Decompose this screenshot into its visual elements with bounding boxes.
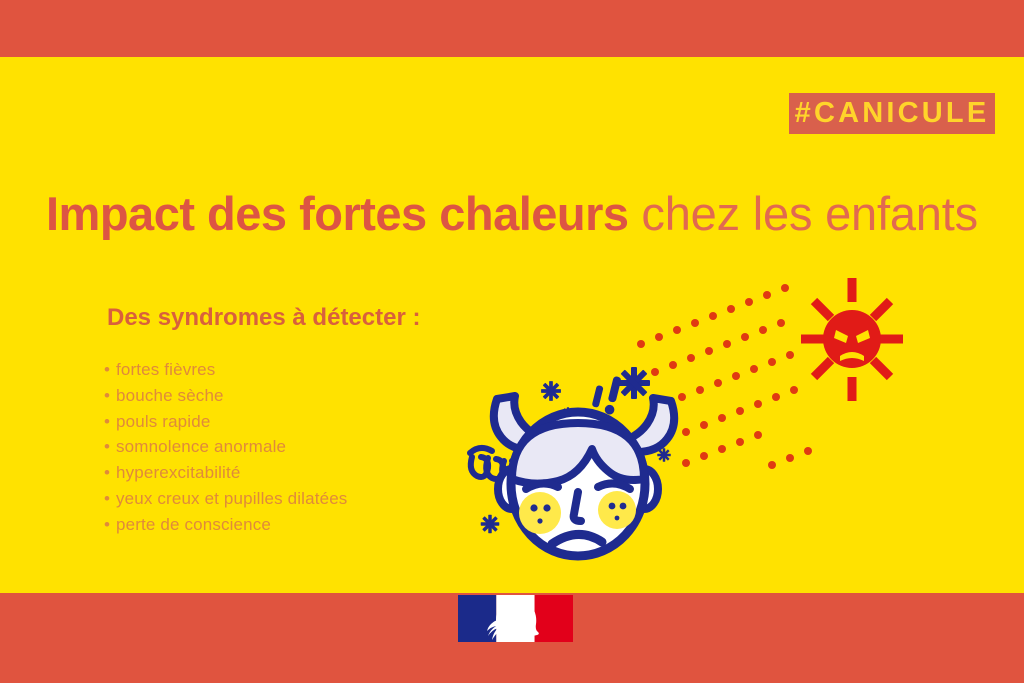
- section-subtitle: Des syndromes à détecter :: [107, 306, 420, 330]
- list-item: •somnolence anormale: [104, 434, 347, 460]
- page-title-light: chez les enfants: [629, 187, 978, 240]
- list-item: •fortes fièvres: [104, 357, 347, 383]
- bullet-glyph: •: [104, 486, 116, 512]
- page-title: Impact des fortes chaleurs chez les enfa…: [46, 190, 978, 237]
- campaign-hashtag-badge: #CANICULE: [789, 93, 995, 134]
- marianne-french-republic-logo: [458, 595, 573, 642]
- list-item: •bouche sèche: [104, 383, 347, 409]
- list-item-label: hyperexcitabilité: [116, 463, 240, 482]
- list-item-label: yeux creux et pupilles dilatées: [116, 489, 347, 508]
- bullet-glyph: •: [104, 434, 116, 460]
- bullet-glyph: •: [104, 409, 116, 435]
- bullet-glyph: •: [104, 460, 116, 486]
- bullet-glyph: •: [104, 512, 116, 538]
- list-item: •yeux creux et pupilles dilatées: [104, 486, 347, 512]
- list-item-label: somnolence anormale: [116, 437, 286, 456]
- list-item: •hyperexcitabilité: [104, 460, 347, 486]
- list-item: •perte de conscience: [104, 512, 347, 538]
- bullet-glyph: •: [104, 383, 116, 409]
- top-red-band: [0, 0, 1024, 57]
- list-item-label: bouche sèche: [116, 386, 224, 405]
- list-item-label: fortes fièvres: [116, 360, 215, 379]
- list-item-label: perte de conscience: [116, 515, 271, 534]
- symptom-list: •fortes fièvres •bouche sèche •pouls rap…: [104, 357, 347, 538]
- list-item: •pouls rapide: [104, 409, 347, 435]
- page-title-strong: Impact des fortes chaleurs: [46, 187, 629, 240]
- list-item-label: pouls rapide: [116, 412, 210, 431]
- bullet-glyph: •: [104, 357, 116, 383]
- heatwave-infographic-poster: #CANICULE Impact des fortes chaleurs che…: [0, 0, 1024, 683]
- campaign-hashtag-text: #CANICULE: [795, 99, 990, 128]
